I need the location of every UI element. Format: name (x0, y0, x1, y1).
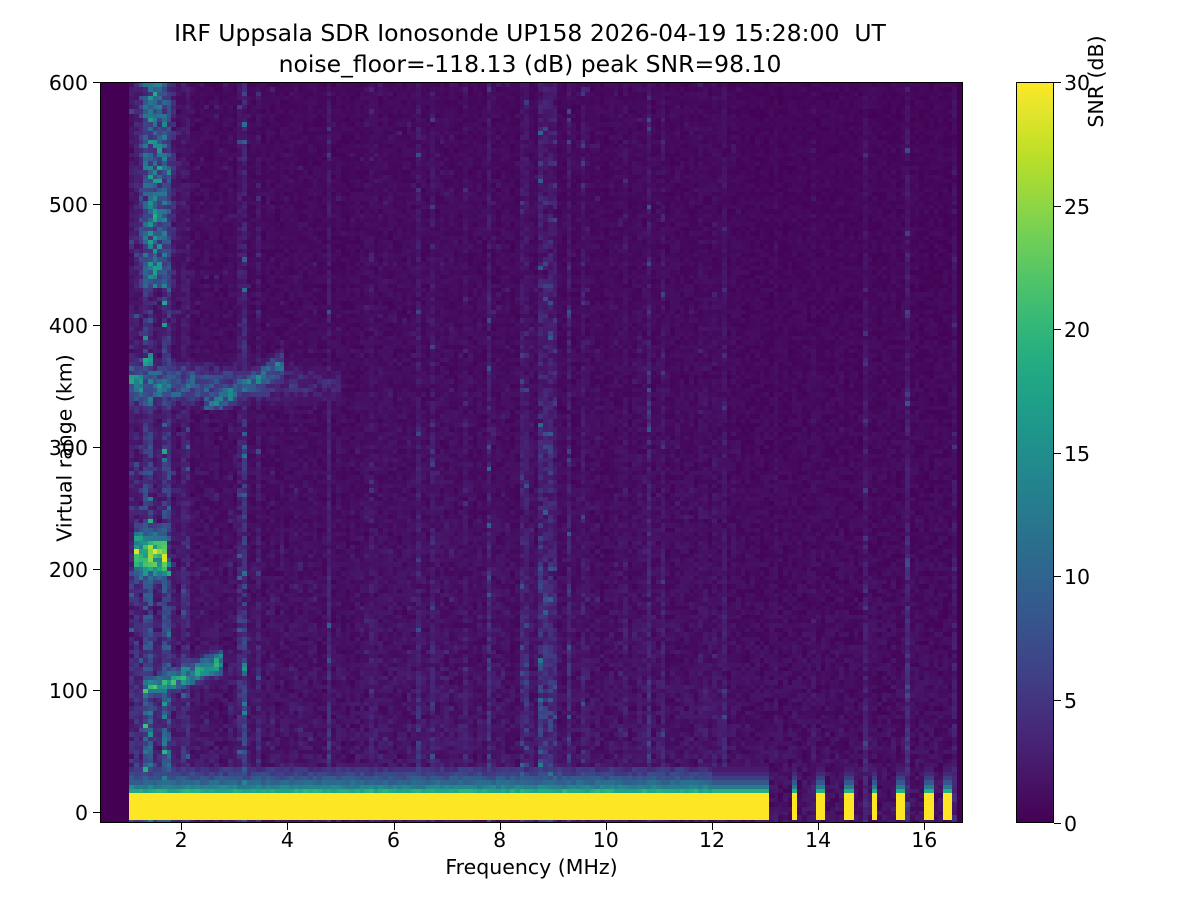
x-tick-label: 16 (884, 828, 964, 852)
colorbar-tick-label: 0 (1064, 812, 1134, 836)
title-line-2: noise_floor=-118.13 (dB) peak SNR=98.10 (0, 49, 1060, 80)
colorbar-tick-mark (1054, 453, 1061, 454)
y-tick-mark (93, 569, 100, 570)
x-tick-label: 12 (672, 828, 752, 852)
x-tick-label: 2 (141, 828, 221, 852)
colorbar-gradient (1017, 83, 1054, 823)
figure-title: IRF Uppsala SDR Ionosonde UP158 2026-04-… (0, 18, 1060, 79)
y-tick-mark (93, 812, 100, 813)
x-tick-label: 10 (566, 828, 646, 852)
colorbar-tick-mark (1054, 700, 1061, 701)
colorbar-tick-mark (1054, 82, 1061, 83)
y-tick-mark (93, 325, 100, 326)
x-axis-label: Frequency (MHz) (100, 855, 963, 879)
x-tick-label: 6 (354, 828, 434, 852)
ionogram-heatmap (101, 83, 963, 823)
ionogram-figure: IRF Uppsala SDR Ionosonde UP158 2026-04-… (0, 0, 1200, 900)
y-tick-mark (93, 82, 100, 83)
y-axis-label: Virtual range (km) (53, 78, 77, 819)
colorbar-tick-mark (1054, 576, 1061, 577)
colorbar-tick-mark (1054, 206, 1061, 207)
x-tick-label: 14 (778, 828, 858, 852)
x-tick-label: 8 (460, 828, 540, 852)
colorbar-axes (1016, 82, 1054, 823)
y-tick-mark (93, 690, 100, 691)
colorbar-tick-mark (1054, 329, 1061, 330)
colorbar-label: SNR (dB) (1084, 0, 1108, 452)
colorbar-tick-mark (1054, 823, 1061, 824)
y-tick-mark (93, 447, 100, 448)
colorbar-tick-label: 5 (1064, 689, 1134, 713)
colorbar-tick-label: 10 (1064, 565, 1134, 589)
y-tick-mark (93, 204, 100, 205)
x-tick-label: 4 (247, 828, 327, 852)
title-line-1: IRF Uppsala SDR Ionosonde UP158 2026-04-… (0, 18, 1060, 49)
ionogram-axes (100, 82, 963, 823)
